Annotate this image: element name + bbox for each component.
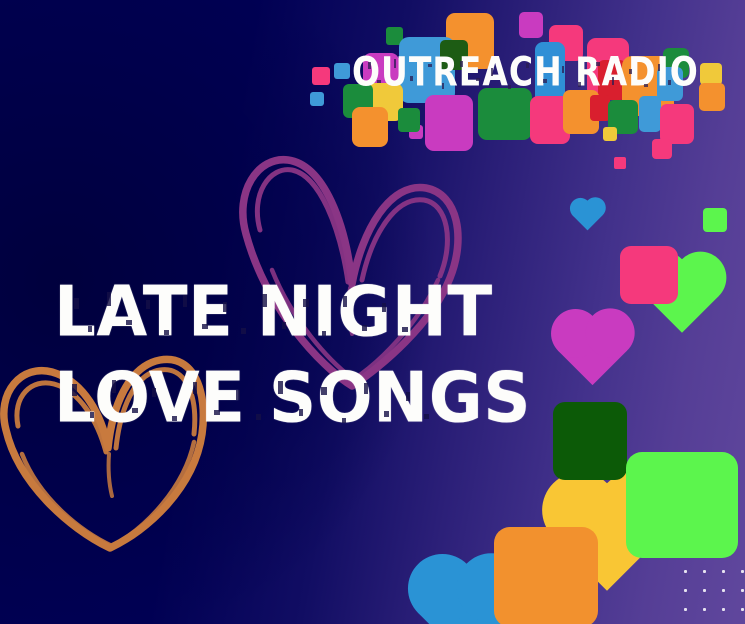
magenta-heart-icon [558,315,630,383]
mosaic-tile [312,67,330,85]
dark-green-square [553,402,627,480]
station-name-text: OUTREACH RADIO [352,48,699,96]
dot-grid-pattern [672,558,745,624]
mosaic-tile [519,12,543,38]
mosaic-tile [310,92,324,106]
page-title-line-2: LOVE SONGS [54,365,531,431]
bright-green-square [626,452,738,558]
small-green-square [703,208,727,232]
small-blue-heart-icon [573,200,603,228]
mosaic-tile [334,63,350,79]
mosaic-tile [478,88,532,140]
mosaic-tile [652,139,672,159]
mosaic-tile [700,63,722,85]
mosaic-tile [699,83,725,111]
mosaic-tile [603,127,617,141]
mosaic-tile [614,157,626,169]
orange-square [494,527,598,624]
page-title-line-1: LATE NIGHT [54,279,493,345]
mosaic-tile [590,95,610,121]
pink-square [620,246,678,304]
mosaic-tile [639,96,661,132]
radio-show-poster: OUTREACH RADIO LATE NIGHT LOVE SONGS [0,0,745,624]
mosaic-tile [660,104,694,144]
mosaic-tile [398,108,420,132]
